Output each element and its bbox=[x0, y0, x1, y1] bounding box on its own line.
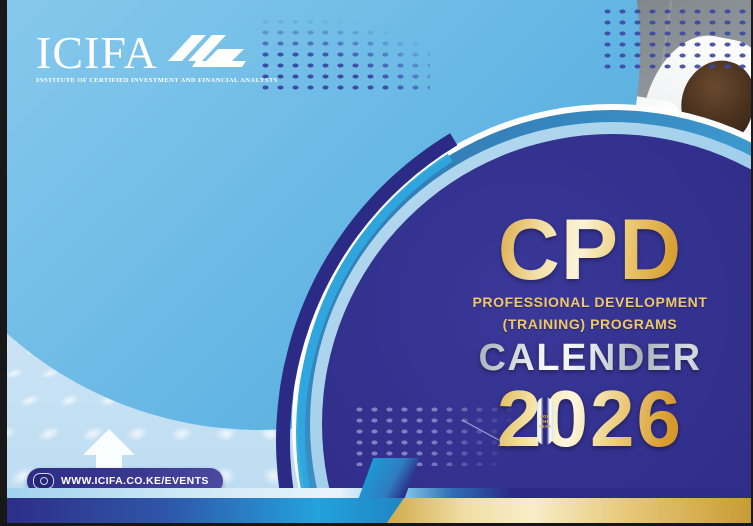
logo-tagline: INSTITUTE OF CERTIFIED INVESTMENT AND FI… bbox=[36, 78, 306, 85]
cpd-subtitle-line-2: (TRAINING) PROGRAMS bbox=[440, 316, 740, 333]
bottom-bar-gold bbox=[386, 498, 753, 524]
year-capsule-badge: FOR THE YEAR bbox=[537, 397, 553, 445]
cpd-acronym: CPD bbox=[440, 212, 740, 289]
bottom-bar bbox=[0, 498, 753, 524]
cpd-headline-lockup: CPD PROFESSIONAL DEVELOPMENT (TRAINING) … bbox=[440, 212, 740, 459]
logo-wordmark: ICIFA bbox=[36, 30, 158, 76]
year-capsule-line-3: YEAR bbox=[539, 424, 551, 429]
up-arrow-icon bbox=[83, 429, 135, 455]
calender-word: CALENDER bbox=[440, 339, 740, 377]
dot-pattern-top-right bbox=[600, 6, 753, 70]
icifa-logo[interactable]: ICIFA INSTITUTE OF CERTIFIED INVESTMENT … bbox=[36, 30, 306, 85]
globe-icon bbox=[33, 473, 54, 489]
website-url-text: WWW.ICIFA.CO.KE/EVENTS bbox=[61, 476, 209, 487]
logo-swoosh-icon bbox=[162, 31, 246, 75]
calendar-year: 2026 bbox=[440, 379, 740, 459]
frame-left-edge bbox=[0, 0, 7, 526]
poster-canvas: 430 240 300 350 270 200 220 0 bbox=[0, 0, 753, 526]
